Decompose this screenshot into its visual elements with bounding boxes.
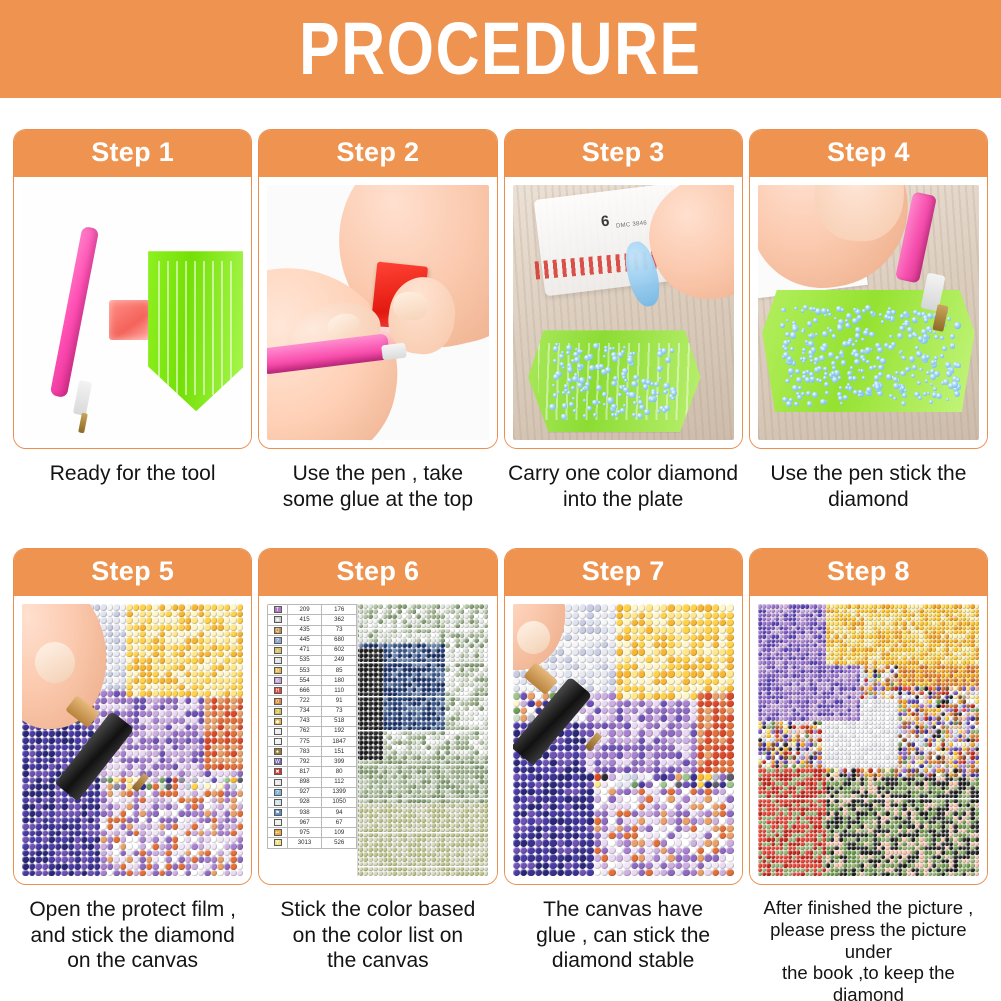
mosaic-bead	[198, 856, 205, 863]
mosaic-bead	[407, 726, 412, 731]
mosaic-bead	[48, 763, 55, 770]
mosaic-bead	[113, 777, 120, 784]
mosaic-bead	[185, 604, 192, 611]
table-row: b55385	[268, 666, 357, 676]
mosaic-bead	[165, 737, 172, 744]
mosaic-bead	[712, 612, 719, 619]
mosaic-bead	[198, 617, 205, 624]
mosaic-bead	[178, 730, 185, 737]
mosaic-bead	[484, 692, 489, 697]
mosaic-bead	[675, 612, 682, 619]
mosaic-bead	[211, 750, 218, 757]
mosaic-bead	[230, 617, 237, 624]
mosaic-bead	[100, 604, 107, 611]
mosaic-bead	[191, 631, 198, 638]
mosaic-bead	[719, 678, 726, 685]
mosaic-bead	[594, 678, 601, 685]
mosaic-bead	[146, 704, 153, 711]
mosaic-bead	[623, 663, 630, 670]
mosaic-bead	[146, 757, 153, 764]
mosaic-bead	[61, 823, 68, 830]
diamond-bead	[801, 309, 804, 312]
mosaic-bead	[594, 648, 601, 655]
mosaic-bead	[146, 730, 153, 737]
color-count-cell: 151	[322, 747, 357, 757]
mosaic-bead	[660, 634, 667, 641]
mosaic-bead	[479, 619, 484, 624]
mosaic-bead	[455, 871, 460, 876]
mosaic-bead	[165, 757, 172, 764]
mosaic-bead	[172, 664, 179, 671]
diamond-bead	[810, 359, 814, 363]
mosaic-bead	[230, 611, 237, 618]
mosaic-bead	[211, 684, 218, 691]
mosaic-bead	[479, 828, 484, 833]
diamond-bead	[954, 391, 960, 397]
step-card-2: Step 2 Use the pe	[258, 129, 497, 512]
mosaic-bead	[638, 626, 645, 633]
mosaic-bead	[185, 664, 192, 671]
mosaic-bead	[682, 612, 689, 619]
mosaic-bead	[185, 730, 192, 737]
mosaic-bead	[479, 653, 484, 658]
mosaic-bead	[61, 830, 68, 837]
diamond-bead	[838, 376, 842, 380]
mosaic-bead	[48, 863, 55, 870]
diamond-bead	[657, 351, 663, 357]
mosaic-bead	[87, 863, 94, 870]
mosaic-bead	[204, 730, 211, 737]
mosaic-bead	[479, 789, 484, 794]
mosaic-bead	[22, 744, 29, 751]
mosaic-bead	[402, 755, 407, 760]
mosaic-bead	[48, 830, 55, 837]
mosaic-bead	[237, 617, 244, 624]
mosaic-bead	[564, 648, 571, 655]
diamond-bead	[950, 334, 955, 339]
mosaic-bead	[139, 651, 146, 658]
mosaic-bead	[704, 634, 711, 641]
mosaic-bead	[224, 697, 231, 704]
mosaic-bead	[431, 658, 436, 663]
diamond-bead	[846, 313, 852, 319]
mosaic-bead	[178, 836, 185, 843]
mosaic-bead	[217, 677, 224, 684]
diamond-bead	[897, 333, 903, 339]
diamond-bead	[819, 379, 822, 382]
pen-tip-icon	[73, 380, 92, 416]
table-row: 373473	[268, 706, 357, 716]
mosaic-bead	[719, 619, 726, 626]
mosaic-bead	[230, 737, 237, 744]
mosaic-bead	[217, 704, 224, 711]
mosaic-bead	[22, 770, 29, 777]
mosaic-bead	[484, 823, 489, 828]
mosaic-bead	[178, 803, 185, 810]
diamond-bead	[900, 371, 905, 376]
mosaic-bead	[230, 803, 237, 810]
mosaic-bead	[616, 634, 623, 641]
step-6-body: T209176■415362Q43573?445680♪471602U53524…	[259, 596, 496, 884]
diamond-bead	[902, 356, 906, 360]
mosaic-bead	[431, 823, 436, 828]
mosaic-bead	[159, 677, 166, 684]
diamond-bead	[857, 315, 862, 320]
mosaic-bead	[172, 657, 179, 664]
mosaic-bead	[704, 612, 711, 619]
mosaic-bead	[100, 863, 107, 870]
mosaic-bead	[217, 604, 224, 611]
mosaic-bead	[204, 611, 211, 618]
table-row: ■415362	[268, 615, 357, 625]
color-code-cell: 415	[287, 615, 322, 625]
diamond-bead	[566, 345, 572, 351]
mosaic-bead	[35, 803, 42, 810]
mosaic-bead	[623, 626, 630, 633]
mosaic-bead	[185, 717, 192, 724]
mosaic-bead	[712, 626, 719, 633]
step-6-caption: Stick the color based on the color list …	[276, 897, 479, 974]
mosaic-bead	[237, 797, 244, 804]
mosaic-bead	[61, 843, 68, 850]
mosaic-bead	[564, 663, 571, 670]
mosaic-bead	[152, 631, 159, 638]
diamond-bead	[785, 332, 790, 337]
symbol-swatch: △	[274, 799, 282, 806]
mosaic-bead	[579, 604, 586, 611]
mosaic-bead	[217, 830, 224, 837]
mosaic-bead	[594, 634, 601, 641]
diamond-bead	[561, 351, 565, 355]
mosaic-bead	[378, 721, 383, 726]
mosaic-bead	[139, 657, 146, 664]
mosaic-bead	[586, 670, 593, 677]
mosaic-bead	[378, 624, 383, 629]
mosaic-bead	[211, 836, 218, 843]
mosaic-bead	[159, 644, 166, 651]
step-card-3: Step 3 6 DMC 3846 Carry one color diamon…	[504, 129, 743, 512]
mosaic-bead	[48, 730, 55, 737]
mosaic-bead	[152, 863, 159, 870]
mosaic-bead	[146, 671, 153, 678]
mosaic-bead	[407, 760, 412, 765]
mosaic-bead	[172, 644, 179, 651]
mosaic-bead	[191, 710, 198, 717]
step-1-caption: Ready for the tool	[46, 461, 220, 487]
mosaic-bead	[690, 678, 697, 685]
mosaic-bead	[191, 671, 198, 678]
mosaic-bead	[191, 704, 198, 711]
mosaic-bead	[564, 670, 571, 677]
mosaic-bead	[378, 871, 383, 876]
diamond-bead	[899, 326, 904, 331]
mosaic-bead	[185, 724, 192, 731]
step-2-illustration	[267, 185, 488, 440]
mosaic-bead	[139, 704, 146, 711]
diamond-bead	[879, 313, 882, 316]
mosaic-bead	[431, 852, 436, 857]
mosaic-bead	[230, 710, 237, 717]
mosaic-bead	[159, 783, 166, 790]
mosaic-bead	[704, 619, 711, 626]
mosaic-bead	[645, 619, 652, 626]
mosaic-bead	[586, 634, 593, 641]
diamond-bead	[583, 399, 586, 402]
mosaic-bead	[146, 810, 153, 817]
mosaic-bead	[697, 648, 704, 655]
diamond-bead	[950, 368, 954, 372]
mosaic-bead	[152, 870, 159, 877]
mosaic-bead	[172, 803, 179, 810]
mosaic-bead	[204, 744, 211, 751]
color-count-cell: 399	[322, 757, 357, 767]
mosaic-bead	[623, 648, 630, 655]
mosaic-bead	[61, 744, 68, 751]
mosaic-bead	[601, 626, 608, 633]
mosaic-bead	[198, 624, 205, 631]
mosaic-bead	[165, 863, 172, 870]
step-2-caption: Use the pen , take some glue at the top	[279, 461, 477, 512]
mosaic-bead	[100, 870, 107, 877]
diamond-bead	[632, 413, 636, 417]
mosaic-bead	[22, 836, 29, 843]
mosaic-bead	[204, 763, 211, 770]
mosaic-bead	[178, 737, 185, 744]
mosaic-bead	[237, 651, 244, 658]
mosaic-bead	[35, 750, 42, 757]
mosaic-bead	[87, 790, 94, 797]
step-card-7: Step 7 The canvas have glue , can stick …	[504, 548, 743, 1001]
color-count-cell: 192	[322, 726, 357, 736]
mosaic-bead	[660, 656, 667, 663]
symbol-swatch: G	[274, 779, 282, 786]
step-3-illustration: 6 DMC 3846	[513, 185, 734, 440]
diamond-bead	[945, 362, 951, 368]
mosaic-bead	[74, 870, 81, 877]
mosaic-bead	[204, 836, 211, 843]
mosaic-bead	[178, 644, 185, 651]
mosaic-bead	[35, 830, 42, 837]
mosaic-bead	[230, 644, 237, 651]
mosaic-bead	[100, 803, 107, 810]
mosaic-bead	[35, 777, 42, 784]
mosaic-bead	[726, 619, 733, 626]
mosaic-bead	[178, 817, 185, 824]
mosaic-bead	[682, 626, 689, 633]
mosaic-bead	[484, 794, 489, 799]
mosaic-bead	[224, 664, 231, 671]
mosaic-bead	[484, 687, 489, 692]
mosaic-bead	[237, 750, 244, 757]
diamond-bead	[577, 364, 582, 369]
color-symbol-cell: ◆	[268, 716, 288, 726]
mosaic-bead	[152, 737, 159, 744]
mosaic-bead	[378, 726, 383, 731]
mosaic-bead	[172, 617, 179, 624]
diamond-bead	[954, 322, 960, 328]
step-7-badge: Step 7	[505, 549, 742, 596]
mosaic-bead	[682, 670, 689, 677]
mosaic-bead	[100, 850, 107, 857]
mosaic-bead	[172, 790, 179, 797]
mosaic-bead	[126, 737, 133, 744]
diamond-bead	[794, 402, 799, 407]
mosaic-bead	[159, 664, 166, 671]
mosaic-bead	[22, 850, 29, 857]
mosaic-bead	[126, 651, 133, 658]
steps-row-bottom: Step 5 Open the protect film , and stick…	[0, 512, 1001, 1001]
table-row: ✖81780	[268, 767, 357, 777]
mosaic-bead	[572, 641, 579, 648]
mosaic-bead	[198, 657, 205, 664]
table-row: 072291	[268, 696, 357, 706]
diamond-bead	[620, 408, 625, 413]
mosaic-bead	[74, 863, 81, 870]
mosaic-bead	[178, 823, 185, 830]
mosaic-bead	[402, 721, 407, 726]
diamond-bead	[786, 319, 790, 323]
mosaic-bead	[455, 789, 460, 794]
mosaic-bead	[484, 726, 489, 731]
color-code-table: T209176■415362Q43573?445680♪471602U53524…	[267, 604, 357, 848]
mosaic-bead	[431, 624, 436, 629]
mosaic-bead	[224, 810, 231, 817]
procedure-infographic: PROCEDURE Step 1 Ready for the tool	[0, 0, 1001, 1001]
step-card-5: Step 5 Open the protect film , and stick…	[13, 548, 252, 1001]
mosaic-bead	[61, 803, 68, 810]
mosaic-bead	[191, 810, 198, 817]
mosaic-bead	[224, 717, 231, 724]
color-code-cell: 553	[287, 666, 322, 676]
mosaic-bead	[185, 856, 192, 863]
mosaic-bead	[224, 624, 231, 631]
diamond-bead	[823, 376, 827, 380]
mosaic-bead	[726, 626, 733, 633]
mosaic-bead	[224, 830, 231, 837]
mosaic-bead	[198, 717, 205, 724]
step-1-body	[14, 177, 251, 448]
mosaic-bead	[455, 653, 460, 658]
mosaic-bead	[113, 810, 120, 817]
mosaic-bead	[407, 871, 412, 876]
mosaic-bead	[230, 863, 237, 870]
mosaic-bead	[191, 604, 198, 611]
pen-nib-icon	[78, 413, 88, 434]
color-code-cell: 666	[287, 686, 322, 696]
mosaic-bead	[224, 724, 231, 731]
diamond-bead	[933, 331, 936, 334]
mosaic-bead	[185, 637, 192, 644]
diamond-bead	[807, 401, 812, 406]
mosaic-bead	[638, 641, 645, 648]
mosaic-bead	[631, 678, 638, 685]
mosaic-bead	[146, 617, 153, 624]
color-symbol-cell: 6	[268, 676, 288, 686]
diamond-bead	[589, 365, 595, 371]
mosaic-bead	[113, 631, 120, 638]
diamond-bead	[795, 369, 800, 374]
mosaic-bead	[198, 757, 205, 764]
mosaic-bead	[675, 619, 682, 626]
step-1-illustration	[22, 185, 243, 440]
diamond-bead	[654, 382, 659, 387]
mosaic-bead	[191, 737, 198, 744]
mosaic-bead	[230, 750, 237, 757]
mosaic-bead	[191, 836, 198, 843]
mosaic-bead	[22, 797, 29, 804]
mosaic-bead	[178, 624, 185, 631]
mosaic-bead	[217, 750, 224, 757]
mosaic-bead	[165, 631, 172, 638]
mosaic-bead	[165, 790, 172, 797]
diamond-bead	[785, 379, 790, 384]
mosaic-bead	[407, 857, 412, 862]
mosaic-bead	[139, 817, 146, 824]
mosaic-bead	[165, 777, 172, 784]
mosaic-bead	[237, 611, 244, 618]
mosaic-bead	[22, 803, 29, 810]
mosaic-bead	[152, 730, 159, 737]
mosaic-bead	[126, 637, 133, 644]
mosaic-bead	[402, 619, 407, 624]
mosaic-bead	[185, 783, 192, 790]
color-count-cell: 85	[322, 666, 357, 676]
mosaic-bead	[152, 830, 159, 837]
mosaic-bead	[146, 664, 153, 671]
mosaic-bead	[159, 817, 166, 824]
mosaic-bead	[191, 777, 198, 784]
mosaic-bead	[126, 604, 133, 611]
mosaic-bead	[139, 644, 146, 651]
mosaic-bead	[237, 717, 244, 724]
mosaic-bead	[178, 870, 185, 877]
diamond-bead	[805, 377, 810, 382]
mosaic-bead	[230, 631, 237, 638]
mosaic-bead	[601, 641, 608, 648]
mosaic-bead	[224, 763, 231, 770]
mosaic-bead	[638, 619, 645, 626]
mosaic-bead	[697, 634, 704, 641]
mosaic-bead	[660, 626, 667, 633]
mosaic-bead	[623, 670, 630, 677]
mosaic-bead	[667, 648, 674, 655]
mosaic-bead	[139, 684, 146, 691]
mosaic-bead	[557, 648, 564, 655]
mosaic-bead	[87, 843, 94, 850]
mosaic-bead	[479, 857, 484, 862]
mosaic-bead	[645, 670, 652, 677]
mosaic-bead	[178, 770, 185, 777]
mosaic-bead	[586, 678, 593, 685]
mosaic-bead	[113, 863, 120, 870]
mosaic-bead	[697, 678, 704, 685]
mosaic-bead	[378, 789, 383, 794]
mosaic-bead	[237, 817, 244, 824]
diamond-bead	[580, 389, 584, 393]
mosaic-bead	[113, 870, 120, 877]
diamond-bead	[845, 323, 850, 328]
mosaic-bead	[594, 641, 601, 648]
step-4-body	[750, 177, 987, 448]
mosaic-bead	[479, 721, 484, 726]
mosaic-bead	[564, 641, 571, 648]
mosaic-bead	[712, 641, 719, 648]
mosaic-bead	[100, 704, 107, 711]
mosaic-bead	[211, 783, 218, 790]
mosaic-bead	[35, 757, 42, 764]
mosaic-bead	[126, 850, 133, 857]
mosaic-bead	[455, 828, 460, 833]
